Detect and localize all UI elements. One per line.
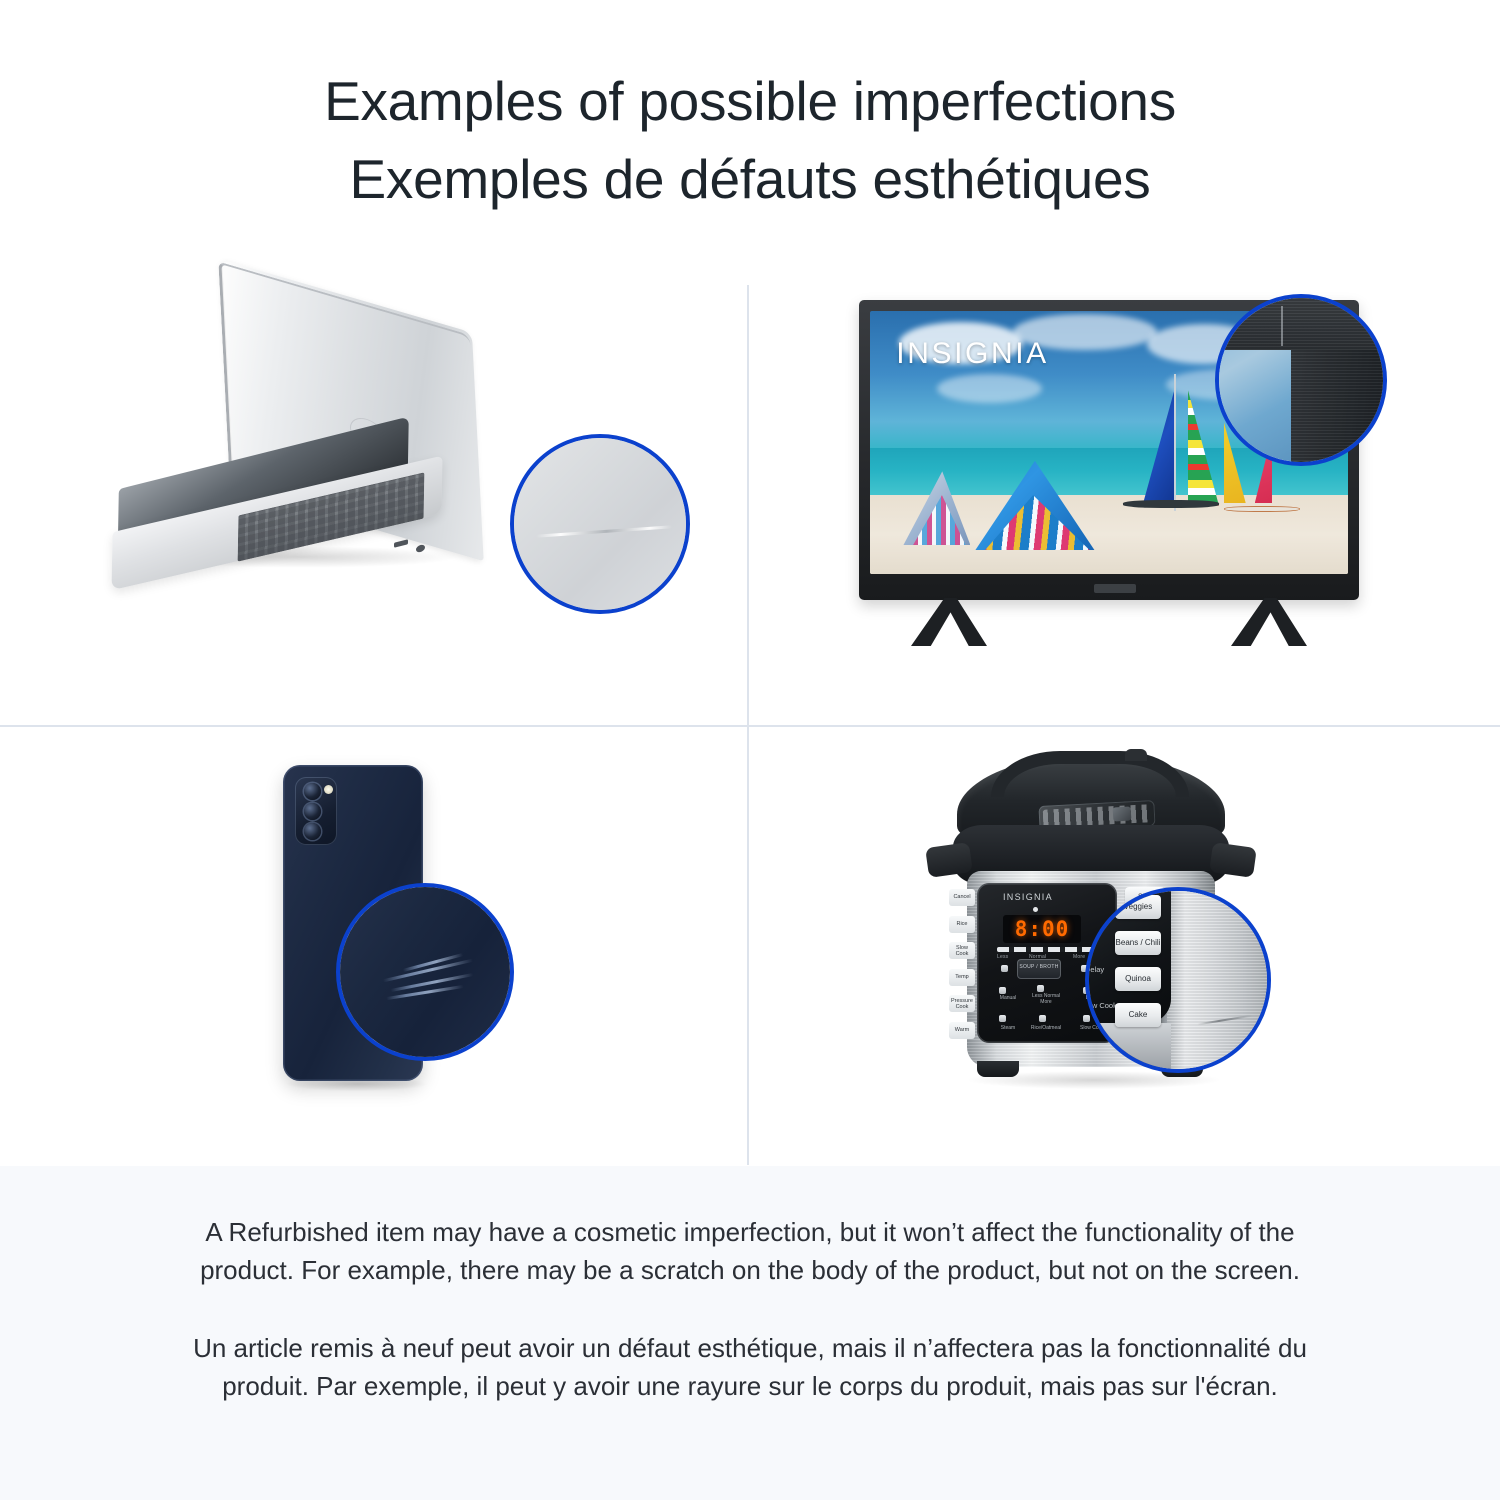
quadrant-pressure-cooker: Cancel Rice Slow Cook Temp Pressure Cook… — [749, 727, 1500, 1166]
camera-module — [295, 777, 337, 845]
cooker-button-warm[interactable]: Warm — [949, 1022, 975, 1039]
boat-hull-dark — [1123, 500, 1219, 508]
title-line-french: Exemples de défauts esthétiques — [0, 140, 1500, 218]
cooker-keycap-label: SOUP / BROTH — [1017, 964, 1061, 970]
camera-lens-icon — [304, 803, 321, 820]
magnifier-laptop-scratch — [510, 434, 690, 614]
cooker-key-icon[interactable] — [999, 987, 1006, 994]
camera-lens-icon — [304, 823, 321, 840]
magnifier-phone-scratches — [336, 883, 514, 1061]
panel-base-strip — [1089, 1023, 1171, 1069]
cooker-handle — [991, 751, 1189, 797]
magnified-button-beans-chili[interactable]: Beans / Chili — [1115, 931, 1161, 955]
cooker-label-manual: Manual — [991, 995, 1025, 1001]
magnifier-tv-surface — [1219, 298, 1383, 462]
cooker-button-cancel[interactable]: Cancel — [949, 889, 975, 906]
pressure-cooker-illustration: Cancel Rice Slow Cook Temp Pressure Cook… — [929, 749, 1309, 1109]
footer-paragraph-french: Un article remis à neuf peut avoir un dé… — [180, 1330, 1320, 1406]
cooker-button-slow-cook[interactable]: Slow Cook — [949, 942, 975, 959]
laptop-scene — [0, 276, 747, 725]
cooker-button-rice[interactable]: Rice — [949, 916, 975, 933]
bezel-grain — [1219, 298, 1383, 350]
television-illustration: INSIGNIA — [859, 300, 1379, 670]
quadrant-television: INSIGNIA — [749, 276, 1500, 725]
cooker-key-icon[interactable] — [1039, 1015, 1046, 1022]
cooker-display-value: 8:00 — [1015, 917, 1070, 941]
pressure-cooker-scene: Cancel Rice Slow Cook Temp Pressure Cook… — [749, 727, 1500, 1166]
scratch-mark — [536, 525, 672, 537]
smartphone-scene — [0, 727, 747, 1166]
cooker-label-rice-oatmeal: Rice/Oatmeal — [1029, 1025, 1063, 1031]
magnifier-cooker-surface: Delay Slow Cook Veggies Beans / Chili Qu… — [1089, 891, 1267, 1069]
tv-leg-right — [1231, 598, 1307, 646]
cooker-bar-label-more: More — [1073, 954, 1085, 960]
page-title: Examples of possible imperfections Exemp… — [0, 62, 1500, 218]
cooker-key-icon[interactable] — [999, 1015, 1006, 1022]
cooker-bar-label-less: Less — [997, 954, 1008, 960]
tv-bezel-top — [1219, 298, 1383, 350]
magnified-label-slow-cook: Slow Cook — [1085, 1001, 1117, 1010]
quadrant-smartphone — [0, 727, 747, 1166]
magnifier-phone-surface — [340, 887, 510, 1057]
cooker-side-handle-right — [1209, 842, 1257, 878]
cooker-status-led-icon — [1033, 907, 1038, 912]
sailboat-mast — [1174, 374, 1176, 511]
cooker-label-less-normal-more: Less Normal More — [1029, 993, 1063, 1005]
tv-leg-left — [911, 598, 987, 646]
cooker-keycap-soup[interactable]: SOUP / BROTH — [1017, 959, 1061, 979]
scuff-mark — [1281, 306, 1283, 346]
title-line-english: Examples of possible imperfections — [0, 62, 1500, 140]
magnified-button-cake[interactable]: Cake — [1115, 1003, 1161, 1027]
magnifier-tv-bezel-scuff — [1215, 294, 1387, 466]
cooker-key-icon[interactable] — [1037, 985, 1044, 992]
cooker-button-pressure-cook[interactable]: Pressure Cook — [949, 995, 975, 1012]
cooker-level-bar — [997, 947, 1093, 952]
magnified-button-quinoa[interactable]: Quinoa — [1115, 967, 1161, 991]
magnifier-cooker-scratch: Delay Slow Cook Veggies Beans / Chili Qu… — [1085, 887, 1271, 1073]
cooker-side-handle-left — [925, 842, 973, 878]
cooker-minus-key-icon[interactable] — [1001, 965, 1008, 972]
cooker-steam-vent-icon — [1113, 806, 1132, 821]
magnified-button-veggies[interactable]: Veggies — [1115, 895, 1161, 919]
television-scene: INSIGNIA — [749, 276, 1500, 725]
cooker-foot-left — [977, 1061, 1019, 1077]
camera-lens-icon — [304, 783, 321, 800]
quadrant-laptop — [0, 276, 747, 725]
examples-grid: INSIGNIA — [0, 276, 1500, 1166]
laptop-illustration — [110, 298, 530, 598]
footer-paragraph-english: A Refurbished item may have a cosmetic i… — [180, 1214, 1320, 1290]
cooker-display: 8:00 — [1003, 915, 1081, 943]
tv-brand-logo: INSIGNIA — [896, 337, 1049, 371]
cloud-shape — [937, 374, 1042, 403]
cooker-label-steam: Steam — [991, 1025, 1025, 1031]
magnifier-laptop-surface — [514, 438, 686, 610]
smartphone-illustration — [283, 765, 523, 1115]
imperfections-infographic: Examples of possible imperfections Exemp… — [0, 0, 1500, 1500]
footer-description: A Refurbished item may have a cosmetic i… — [0, 1166, 1500, 1500]
cooker-handle-knob — [1125, 749, 1147, 761]
cooker-brand-logo: INSIGNIA — [1003, 892, 1053, 902]
magnified-label-delay: Delay — [1085, 965, 1104, 974]
stainless-surface — [1167, 891, 1267, 1069]
cooker-button-temp[interactable]: Temp — [949, 969, 975, 986]
cooker-left-button-column: Cancel Rice Slow Cook Temp Pressure Cook… — [949, 889, 975, 1039]
tv-bottom-logo-nub — [1094, 584, 1136, 593]
camera-flash-icon — [324, 785, 333, 794]
